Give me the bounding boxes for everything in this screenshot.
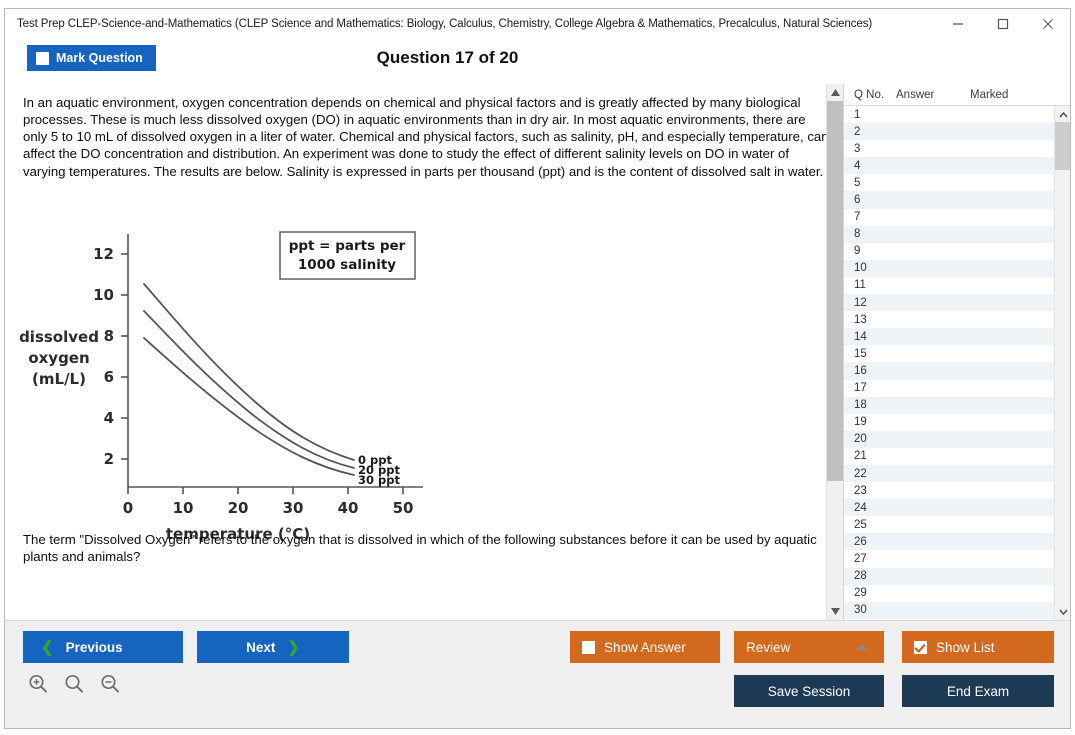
cell-qno: 22 bbox=[844, 468, 896, 480]
y-tick-2: 2 bbox=[104, 450, 114, 468]
y-tick-labels: 12 10 8 6 4 2 bbox=[93, 245, 114, 468]
show-answer-button[interactable]: Show Answer bbox=[570, 631, 720, 663]
table-row[interactable]: 28 bbox=[844, 568, 1070, 585]
table-row[interactable]: 5 bbox=[844, 174, 1070, 191]
x-tick-40: 40 bbox=[338, 499, 359, 517]
cell-qno: 15 bbox=[844, 348, 896, 360]
x-tick-10: 10 bbox=[173, 499, 194, 517]
cell-qno: 11 bbox=[844, 279, 896, 291]
maximize-icon[interactable] bbox=[980, 9, 1025, 39]
cell-qno: 19 bbox=[844, 416, 896, 428]
series-line-30-ppt bbox=[144, 338, 354, 475]
y-tick-6: 6 bbox=[104, 368, 114, 386]
annotation-line-2: 1000 salinity bbox=[298, 257, 396, 273]
y-tick-10: 10 bbox=[93, 286, 114, 304]
cell-qno: 14 bbox=[844, 331, 896, 343]
x-tick-50: 50 bbox=[393, 499, 414, 517]
close-icon[interactable] bbox=[1025, 9, 1070, 39]
scroll-down-icon[interactable] bbox=[827, 603, 843, 620]
window-title: Test Prep CLEP-Science-and-Mathematics (… bbox=[5, 18, 872, 30]
y-tick-4: 4 bbox=[104, 409, 114, 427]
question-rows: 1234567891011121314151617181920212223242… bbox=[844, 106, 1070, 619]
content-area: In an aquatic environment, oxygen concen… bbox=[4, 84, 1071, 620]
cell-qno: 24 bbox=[844, 502, 896, 514]
list-scroll-up-icon[interactable] bbox=[1055, 106, 1070, 123]
cell-qno: 28 bbox=[844, 570, 896, 582]
cell-qno: 23 bbox=[844, 485, 896, 497]
table-row[interactable]: 18 bbox=[844, 397, 1070, 414]
cell-qno: 16 bbox=[844, 365, 896, 377]
x-tick-marks bbox=[128, 487, 403, 494]
chevron-up-icon bbox=[856, 644, 868, 650]
cell-qno: 5 bbox=[844, 177, 896, 189]
end-exam-label: End Exam bbox=[947, 684, 1009, 699]
cell-qno: 17 bbox=[844, 382, 896, 394]
series-line-0-ppt bbox=[144, 284, 354, 460]
table-row[interactable]: 4 bbox=[844, 157, 1070, 174]
chart-svg: 12 10 8 6 4 2 bbox=[13, 222, 443, 542]
passage-pane: In an aquatic environment, oxygen concen… bbox=[5, 84, 843, 620]
cell-qno: 3 bbox=[844, 143, 896, 155]
question-list-scrollbar-thumb[interactable] bbox=[1055, 122, 1070, 170]
x-tick-labels: 0 10 20 30 40 50 bbox=[123, 499, 414, 517]
table-row[interactable]: 24 bbox=[844, 499, 1070, 516]
x-tick-0: 0 bbox=[123, 499, 133, 517]
cell-qno: 25 bbox=[844, 519, 896, 531]
cell-qno: 1 bbox=[844, 109, 896, 121]
question-list-panel: Q No. Answer Marked 12345678910111213141… bbox=[843, 84, 1070, 620]
table-row[interactable]: 2 bbox=[844, 123, 1070, 140]
question-prompt: The term "Dissolved Oxygen" refers to th… bbox=[23, 531, 829, 565]
scroll-up-icon[interactable] bbox=[827, 84, 843, 101]
series-label-30-ppt: 30 ppt bbox=[358, 473, 400, 487]
table-row[interactable]: 14 bbox=[844, 328, 1070, 345]
column-header-answer: Answer bbox=[896, 89, 970, 101]
content-scrollbar[interactable] bbox=[826, 84, 843, 620]
cell-qno: 9 bbox=[844, 245, 896, 257]
chevron-left-icon: ❮ bbox=[41, 640, 54, 655]
y-axis-label-line-3: (mL/L) bbox=[32, 370, 86, 388]
save-session-label: Save Session bbox=[768, 684, 851, 699]
y-tick-12: 12 bbox=[93, 245, 114, 263]
question-list-scrollbar[interactable] bbox=[1054, 106, 1070, 620]
save-session-button[interactable]: Save Session bbox=[734, 675, 884, 707]
show-list-checkbox-icon[interactable] bbox=[914, 641, 927, 654]
series-labels: 0 ppt 20 ppt 30 ppt bbox=[358, 453, 400, 487]
table-row[interactable]: 20 bbox=[844, 431, 1070, 448]
show-list-button[interactable]: Show List bbox=[902, 631, 1054, 663]
table-row[interactable]: 7 bbox=[844, 209, 1070, 226]
table-row[interactable]: 21 bbox=[844, 448, 1070, 465]
x-tick-30: 30 bbox=[283, 499, 304, 517]
cell-qno: 13 bbox=[844, 314, 896, 326]
cell-qno: 7 bbox=[844, 211, 896, 223]
end-exam-button[interactable]: End Exam bbox=[902, 675, 1054, 707]
title-bar: Test Prep CLEP-Science-and-Mathematics (… bbox=[4, 8, 1071, 38]
table-row[interactable]: 12 bbox=[844, 294, 1070, 311]
review-dropdown-button[interactable]: Review bbox=[734, 631, 884, 663]
table-row[interactable]: 1 bbox=[844, 106, 1070, 123]
cell-qno: 29 bbox=[844, 587, 896, 599]
cell-qno: 10 bbox=[844, 262, 896, 274]
review-label: Review bbox=[746, 640, 790, 655]
y-tick-marks bbox=[121, 254, 128, 459]
dissolved-oxygen-chart: 12 10 8 6 4 2 bbox=[13, 222, 443, 542]
window-controls bbox=[935, 9, 1070, 39]
bottom-toolbar: ❮ Previous Next ❯ Show Answer Review Sho… bbox=[4, 620, 1071, 729]
table-row[interactable]: 13 bbox=[844, 311, 1070, 328]
next-button[interactable]: Next ❯ bbox=[197, 631, 349, 663]
column-header-qno: Q No. bbox=[844, 89, 896, 101]
table-row[interactable]: 27 bbox=[844, 550, 1070, 567]
zoom-in-icon[interactable] bbox=[27, 673, 49, 695]
cell-qno: 4 bbox=[844, 160, 896, 172]
cell-qno: 8 bbox=[844, 228, 896, 240]
table-row[interactable]: 29 bbox=[844, 585, 1070, 602]
table-row[interactable]: 26 bbox=[844, 533, 1070, 550]
cell-qno: 12 bbox=[844, 297, 896, 309]
table-row[interactable]: 9 bbox=[844, 243, 1070, 260]
exam-header: Mark Question Question 17 of 20 bbox=[4, 38, 1071, 84]
table-row[interactable]: 19 bbox=[844, 414, 1070, 431]
y-tick-8: 8 bbox=[104, 327, 114, 345]
previous-label: Previous bbox=[66, 640, 123, 655]
previous-button[interactable]: ❮ Previous bbox=[23, 631, 183, 663]
cell-qno: 30 bbox=[844, 604, 896, 616]
content-scrollbar-thumb[interactable] bbox=[827, 101, 843, 481]
cell-qno: 20 bbox=[844, 433, 896, 445]
y-axis-label: dissolved oxygen (mL/L) bbox=[19, 328, 99, 388]
table-row[interactable]: 16 bbox=[844, 362, 1070, 379]
table-row[interactable]: 22 bbox=[844, 465, 1070, 482]
cell-qno: 6 bbox=[844, 194, 896, 206]
table-row[interactable]: 6 bbox=[844, 191, 1070, 208]
show-list-label: Show List bbox=[936, 640, 995, 655]
passage-text: In an aquatic environment, oxygen concen… bbox=[23, 94, 829, 180]
zoom-toolbar bbox=[27, 673, 121, 695]
page-title: Question 17 of 20 bbox=[0, 48, 1070, 68]
table-row[interactable]: 25 bbox=[844, 516, 1070, 533]
zoom-out-icon[interactable] bbox=[99, 673, 121, 695]
y-axis-label-line-1: dissolved bbox=[19, 328, 99, 346]
x-tick-20: 20 bbox=[228, 499, 249, 517]
show-answer-checkbox-icon[interactable] bbox=[582, 641, 595, 654]
annotation-line-1: ppt = parts per bbox=[289, 238, 406, 254]
y-axis-label-line-2: oxygen bbox=[28, 349, 89, 367]
minimize-icon[interactable] bbox=[935, 9, 980, 39]
question-list-body: 1234567891011121314151617181920212223242… bbox=[844, 106, 1070, 620]
cell-qno: 21 bbox=[844, 450, 896, 462]
list-scroll-down-icon[interactable] bbox=[1055, 603, 1070, 620]
table-row[interactable]: 15 bbox=[844, 345, 1070, 362]
chevron-right-icon: ❯ bbox=[287, 640, 300, 655]
show-answer-label: Show Answer bbox=[604, 640, 686, 655]
table-row[interactable]: 17 bbox=[844, 380, 1070, 397]
table-row[interactable]: 30 bbox=[844, 602, 1070, 619]
question-list-header: Q No. Answer Marked bbox=[844, 84, 1070, 106]
cell-qno: 18 bbox=[844, 399, 896, 411]
next-label: Next bbox=[246, 640, 275, 655]
table-row[interactable]: 8 bbox=[844, 226, 1070, 243]
cell-qno: 27 bbox=[844, 553, 896, 565]
table-row[interactable]: 10 bbox=[844, 260, 1070, 277]
cell-qno: 26 bbox=[844, 536, 896, 548]
exam-window: Test Prep CLEP-Science-and-Mathematics (… bbox=[0, 0, 1075, 735]
table-row[interactable]: 3 bbox=[844, 140, 1070, 157]
cell-qno: 2 bbox=[844, 126, 896, 138]
zoom-reset-icon[interactable] bbox=[63, 673, 85, 695]
series-line-20-ppt bbox=[144, 311, 354, 468]
column-header-marked: Marked bbox=[970, 89, 1040, 101]
table-row[interactable]: 23 bbox=[844, 482, 1070, 499]
table-row[interactable]: 11 bbox=[844, 277, 1070, 294]
